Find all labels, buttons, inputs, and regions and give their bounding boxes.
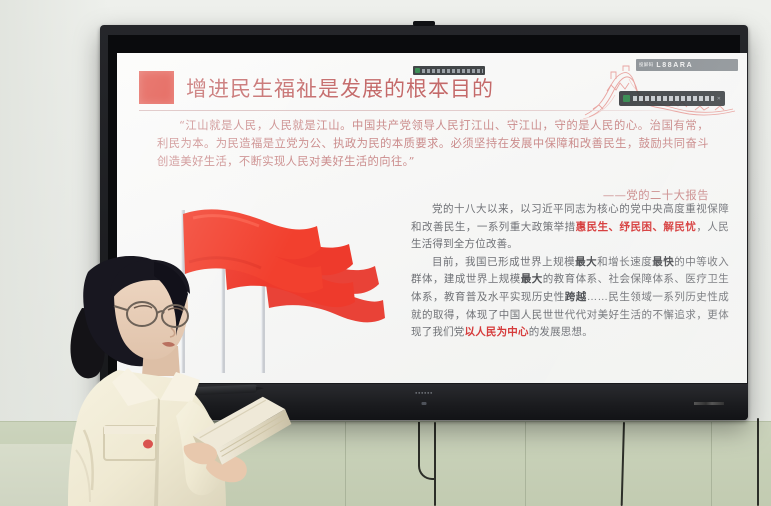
screen-notification-bar[interactable] xyxy=(413,66,485,75)
ir-sensor xyxy=(413,21,435,26)
cast-icon xyxy=(623,95,630,102)
presenter xyxy=(58,250,294,506)
notification-text-blur xyxy=(422,69,483,73)
power-cable xyxy=(434,422,436,506)
cast-status-toast[interactable]: ✕ xyxy=(619,91,725,106)
slide-title-row: 增进民生福祉是发展的根本目的 xyxy=(139,71,494,104)
cast-code-label: 投屏码 xyxy=(639,62,653,68)
panel-brand-label: ●●●●●● xyxy=(415,390,433,395)
title-divider xyxy=(139,110,725,111)
slide-quote: “江山就是人民，人民就是江山。中国共产党领导人民打江山、守江山，守的是人民的心。… xyxy=(157,117,709,171)
classroom-scene: 增进民生福祉是发展的根本目的 “江山就是人民，人民就是江山。中国共产党领导人民打… xyxy=(0,0,771,506)
title-marker-square xyxy=(139,71,174,104)
wall-cable xyxy=(757,418,759,506)
cast-code-watermark: 投屏码 L88ARA xyxy=(636,59,738,71)
toast-text-blur xyxy=(633,96,714,101)
slide-body-text: 党的十八大以来，以习近平同志为核心的党中央高度重视保障和改善民生，一系列重大政策… xyxy=(411,201,729,342)
power-led-icon xyxy=(422,402,427,405)
close-icon[interactable]: ✕ xyxy=(717,96,721,102)
body-paragraph-2: 目前，我国已形成世界上规模最大和增长速度最快的中等收入群体，建成世界上规模最大的… xyxy=(411,254,729,342)
cast-code-value: L88ARA xyxy=(656,62,693,69)
party-emblem-badge xyxy=(143,440,153,449)
status-dot-icon xyxy=(415,68,420,73)
body-paragraph-1: 党的十八大以来，以习近平同志为核心的党中央高度重视保障和改善民生，一系列重大政策… xyxy=(411,201,729,254)
page-title: 增进民生福祉是发展的根本目的 xyxy=(186,73,494,103)
panel-ports xyxy=(694,402,724,405)
